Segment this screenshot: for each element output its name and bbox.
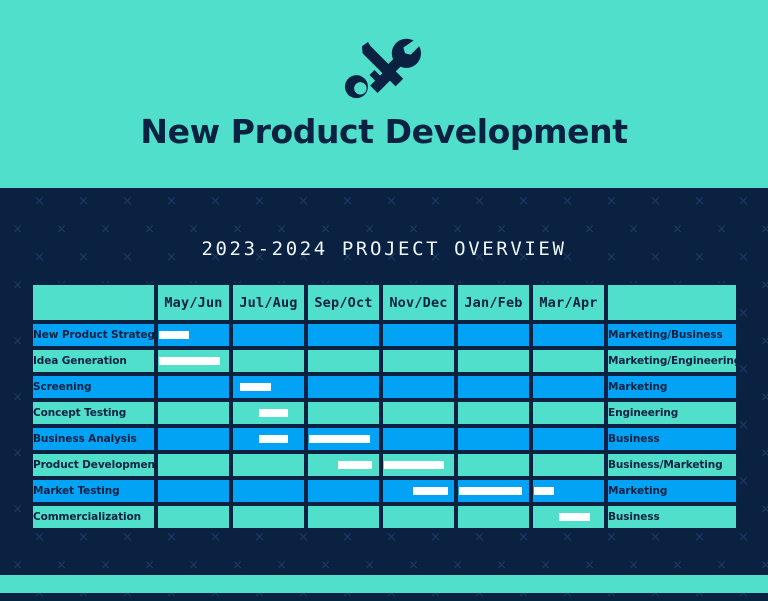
pattern-x-icon: × [672,560,683,571]
gantt-cell [531,426,606,452]
pattern-x-icon: × [298,196,309,207]
pattern-x-icon: × [474,532,485,543]
pattern-x-icon: × [386,532,397,543]
table-row: CommercializationBusiness [31,504,738,530]
gantt-cell [381,478,456,504]
table-header: May/Jun Jul/Aug Sep/Oct Nov/Dec Jan/Feb … [31,283,738,322]
gantt-cell [231,400,306,426]
gantt-bar [159,331,189,339]
pattern-x-icon: × [342,196,353,207]
pattern-x-icon: × [122,532,133,543]
table-row: Idea GenerationMarketing/Engineering [31,348,738,374]
department-cell: Marketing/Engineering [606,348,738,374]
gantt-cell [456,452,531,478]
pattern-x-icon: × [628,560,639,571]
task-name-cell: New Product Strategy [31,322,156,348]
pattern-x-icon: × [144,224,155,235]
task-name-cell: Concept Testing [31,400,156,426]
pattern-x-icon: × [56,560,67,571]
pattern-x-icon: × [760,504,768,515]
gantt-cell [531,452,606,478]
pattern-x-icon: × [254,532,265,543]
pattern-x-icon: × [166,532,177,543]
gantt-cell [306,374,381,400]
gantt-cell [456,504,531,530]
gantt-cell [456,400,531,426]
gantt-cell [306,348,381,374]
department-cell: Business [606,504,738,530]
poster-canvas: ××××××××××××××××××××××××××××××××××××××××… [0,0,768,593]
pattern-x-icon: × [694,532,705,543]
pattern-x-icon: × [584,560,595,571]
gantt-cell [456,374,531,400]
gantt-cell [456,478,531,504]
pattern-x-icon: × [584,224,595,235]
pattern-x-icon: × [12,448,23,459]
pattern-x-icon: × [12,504,23,515]
pattern-x-icon: × [34,532,45,543]
pattern-x-icon: × [12,224,23,235]
pattern-x-icon: × [122,196,133,207]
pattern-x-icon: × [606,532,617,543]
column-header-month-0: May/Jun [156,283,231,322]
pattern-x-icon: × [760,224,768,235]
pattern-x-icon: × [760,392,768,403]
pattern-x-icon: × [760,280,768,291]
pattern-x-icon: × [738,196,749,207]
pattern-x-icon: × [716,560,727,571]
column-header-task [31,283,156,322]
pattern-x-icon: × [342,532,353,543]
pattern-x-icon: × [540,560,551,571]
pattern-x-icon: × [144,560,155,571]
pattern-x-icon: × [34,196,45,207]
pattern-x-icon: × [474,196,485,207]
pattern-x-icon: × [78,532,89,543]
table-row: Product DevelopmentBusiness/Marketing [31,452,738,478]
gantt-cell [231,478,306,504]
gantt-cell [156,478,231,504]
pattern-x-icon: × [738,364,749,375]
task-name-cell: Idea Generation [31,348,156,374]
gantt-cell [306,504,381,530]
gantt-cell [306,478,381,504]
column-header-month-3: Nov/Dec [381,283,456,322]
gantt-cell [381,426,456,452]
pattern-x-icon: × [518,532,529,543]
pattern-x-icon: × [12,336,23,347]
gantt-bar [240,383,271,391]
pattern-x-icon: × [738,308,749,319]
pattern-x-icon: × [166,196,177,207]
department-cell: Business [606,426,738,452]
gantt-cell [381,322,456,348]
header-row: May/Jun Jul/Aug Sep/Oct Nov/Dec Jan/Feb … [31,283,738,322]
pattern-x-icon: × [760,336,768,347]
pattern-x-icon: × [386,196,397,207]
gantt-cell [381,504,456,530]
pattern-x-icon: × [0,308,1,319]
pattern-x-icon: × [298,532,309,543]
pattern-x-icon: × [760,560,768,571]
pattern-x-icon: × [650,196,661,207]
pattern-x-icon: × [408,560,419,571]
gantt-cell [231,322,306,348]
gantt-bar [309,435,370,443]
gantt-cell [531,478,606,504]
pattern-x-icon: × [738,532,749,543]
gantt-cell [531,504,606,530]
gantt-cell [156,348,231,374]
task-name-cell: Business Analysis [31,426,156,452]
pattern-x-icon: × [254,196,265,207]
pattern-x-icon: × [100,560,111,571]
column-header-month-2: Sep/Oct [306,283,381,322]
gantt-cell [306,322,381,348]
gantt-cell [231,348,306,374]
gantt-cell [231,452,306,478]
column-header-month-5: Mar/Apr [531,283,606,322]
gantt-cell [306,452,381,478]
table-body: New Product StrategyMarketing/BusinessId… [31,322,738,530]
gantt-cell [381,348,456,374]
pattern-x-icon: × [738,476,749,487]
project-overview-subtitle: 2023-2024 PROJECT OVERVIEW [0,238,768,260]
pattern-x-icon: × [606,196,617,207]
pattern-x-icon: × [320,224,331,235]
gantt-chart-table: May/Jun Jul/Aug Sep/Oct Nov/Dec Jan/Feb … [31,283,738,530]
pattern-x-icon: × [430,532,441,543]
gantt-cell [306,426,381,452]
footer-bar [0,575,768,593]
gantt-cell [456,322,531,348]
pattern-x-icon: × [210,532,221,543]
pattern-x-icon: × [738,420,749,431]
gantt-cell [156,426,231,452]
gantt-bar [413,487,449,495]
pattern-x-icon: × [518,196,529,207]
gantt-cell [231,504,306,530]
department-cell: Business/Marketing [606,452,738,478]
gantt-bar [459,487,521,495]
pattern-x-icon: × [188,560,199,571]
pattern-x-icon: × [56,224,67,235]
department-cell: Marketing [606,374,738,400]
table-row: ScreeningMarketing [31,374,738,400]
pattern-x-icon: × [562,196,573,207]
gantt-cell [231,374,306,400]
gantt-bar [259,409,289,417]
gantt-cell [156,504,231,530]
pattern-x-icon: × [408,224,419,235]
pattern-x-icon: × [0,532,1,543]
column-header-month-4: Jan/Feb [456,283,531,322]
gantt-cell [531,348,606,374]
pattern-x-icon: × [716,224,727,235]
column-header-dept [606,283,738,322]
department-cell: Marketing/Business [606,322,738,348]
pattern-x-icon: × [496,224,507,235]
pattern-x-icon: × [760,448,768,459]
pattern-x-icon: × [0,196,1,207]
pattern-x-icon: × [12,392,23,403]
wrench-screwdriver-icon [344,32,424,110]
pattern-x-icon: × [232,224,243,235]
table-row: Market TestingMarketing [31,478,738,504]
pattern-x-icon: × [364,224,375,235]
pattern-x-icon: × [210,196,221,207]
pattern-x-icon: × [0,364,1,375]
task-name-cell: Screening [31,374,156,400]
table-row: New Product StrategyMarketing/Business [31,322,738,348]
task-name-cell: Product Development [31,452,156,478]
pattern-x-icon: × [78,196,89,207]
pattern-x-icon: × [430,196,441,207]
gantt-cell [381,452,456,478]
pattern-x-icon: × [364,560,375,571]
gantt-cell [381,400,456,426]
poster-header: New Product Development [0,0,768,188]
pattern-x-icon: × [694,196,705,207]
column-header-month-1: Jul/Aug [231,283,306,322]
department-cell: Engineering [606,400,738,426]
gantt-cell [156,374,231,400]
pattern-x-icon: × [12,280,23,291]
department-cell: Marketing [606,478,738,504]
gantt-bar [559,513,590,521]
table-row: Business AnalysisBusiness [31,426,738,452]
pattern-x-icon: × [100,224,111,235]
task-name-cell: Commercialization [31,504,156,530]
pattern-x-icon: × [188,224,199,235]
task-name-cell: Market Testing [31,478,156,504]
pattern-x-icon: × [628,224,639,235]
pattern-x-icon: × [0,420,1,431]
page-title: New Product Development [0,112,768,151]
table-row: Concept TestingEngineering [31,400,738,426]
gantt-bar [159,357,220,365]
pattern-x-icon: × [0,476,1,487]
gantt-cell [156,322,231,348]
gantt-cell [456,348,531,374]
gantt-bar [338,461,372,469]
pattern-x-icon: × [320,560,331,571]
gantt-bar [259,435,289,443]
pattern-x-icon: × [650,532,661,543]
pattern-x-icon: × [496,560,507,571]
gantt-cell [531,374,606,400]
gantt-bar [534,487,554,495]
gantt-cell [306,400,381,426]
pattern-x-icon: × [540,224,551,235]
pattern-x-icon: × [12,560,23,571]
gantt-bar [384,461,444,469]
pattern-x-icon: × [452,224,463,235]
gantt-cell [531,322,606,348]
gantt-cell [231,426,306,452]
pattern-x-icon: × [276,560,287,571]
gantt-cell [381,374,456,400]
gantt-cell [156,400,231,426]
pattern-x-icon: × [562,532,573,543]
pattern-x-icon: × [672,224,683,235]
gantt-cell [531,400,606,426]
pattern-x-icon: × [232,560,243,571]
gantt-cell [456,426,531,452]
pattern-x-icon: × [452,560,463,571]
pattern-x-icon: × [276,224,287,235]
gantt-cell [156,452,231,478]
